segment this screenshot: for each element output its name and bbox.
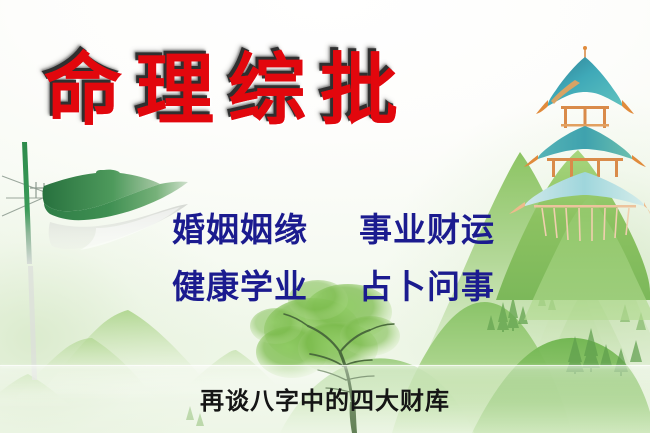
page-title: 命理综批 <box>44 52 412 130</box>
poster-canvas: 命理综批 命理综批 婚姻姻缘 事业财运 健康学业 占卜问事 再谈八字中的四大财库 <box>0 0 650 433</box>
subtitle-row-1: 婚姻姻缘 事业财运 <box>172 213 495 246</box>
subtitle-career: 事业财运 <box>359 210 495 249</box>
subtitle-divination: 占卜问事 <box>359 267 495 306</box>
bottom-caption: 再谈八字中的四大财库 <box>0 389 650 413</box>
subtitle-marriage: 婚姻姻缘 <box>172 210 308 249</box>
subtitle-health-study: 健康学业 <box>172 267 308 306</box>
subtitle-row-2: 健康学业 占卜问事 <box>172 270 495 303</box>
